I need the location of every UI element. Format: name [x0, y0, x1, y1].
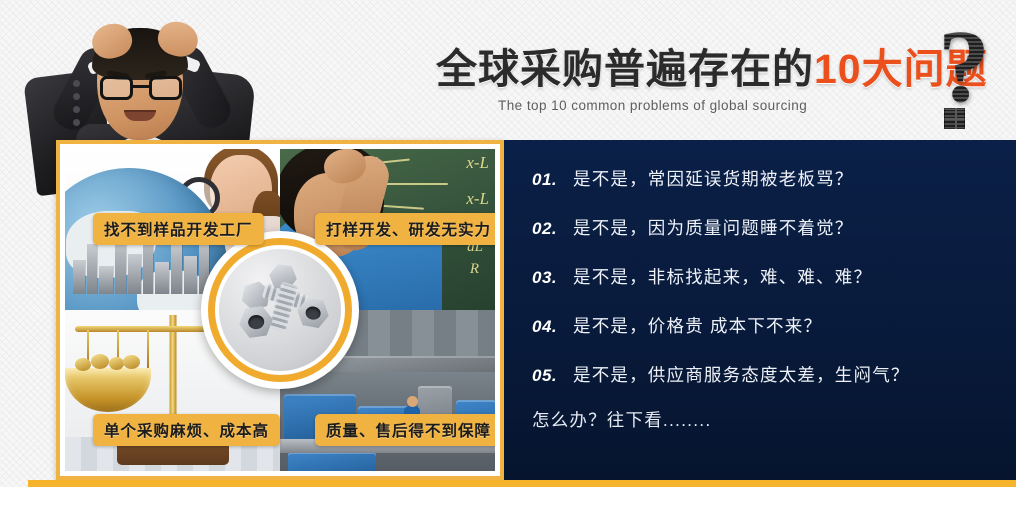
bolts-badge — [201, 231, 359, 389]
item-number: 03. — [532, 268, 560, 288]
list-item: 01. 是不是，常因延误货期被老板骂？ — [532, 166, 1016, 191]
question-mark-glyph: ? — [938, 22, 1010, 111]
question-mark-dot — [944, 108, 965, 129]
item-text: 是不是，常因延误货期被老板骂？ — [573, 166, 854, 191]
machine-5 — [288, 452, 376, 471]
gold-nugget-3 — [109, 357, 124, 370]
badge-orange-ring — [208, 238, 352, 382]
right-lens — [149, 76, 182, 100]
caption-factory-quality: 质量、售后得不到保障 — [315, 414, 500, 446]
chalk-formula-2: x-L — [466, 189, 489, 209]
chalk-formula-1: x-L — [466, 153, 489, 173]
caption-rnd-capability: 打样开发、研发无实力 — [315, 213, 500, 245]
item-text: 是不是，价格贵 成本下不来？ — [573, 313, 822, 338]
promo-banner: 全球采购普遍存在的10大问题 The top 10 common problem… — [0, 0, 1016, 531]
subtitle: The top 10 common problems of global sou… — [498, 98, 956, 113]
list-item: 03. 是不是，非标找起来，难、难、难？ — [532, 264, 1016, 289]
title-main-text: 全球采购普遍存在的 — [436, 46, 814, 92]
sleeve-buttons — [73, 80, 81, 124]
chalk-formula-5: R — [470, 261, 479, 278]
list-item: 05. 是不是，供应商服务态度太差，生闷气？ — [532, 362, 1016, 387]
list-item: 04. 是不是，价格贵 成本下不来？ — [532, 313, 1016, 338]
eyeglasses-icon — [100, 76, 182, 102]
content-card: x-L x-L R dL R — [28, 140, 1016, 480]
item-number: 02. — [532, 219, 560, 239]
question-mark-icon: ? — [938, 22, 1010, 134]
item-text: 是不是，非标找起来，难、难、难？ — [573, 264, 872, 289]
item-number: 04. — [532, 317, 560, 337]
nut-1 — [237, 305, 275, 339]
closing-text: 怎么办？往下看........ — [532, 407, 1016, 432]
bottom-white-band — [0, 487, 1016, 531]
caption-cost-scale: 单个采购麻烦、成本高 — [93, 414, 280, 446]
gold-nugget-4 — [123, 355, 140, 369]
factory-worker-head — [407, 396, 418, 407]
glasses-bridge — [133, 85, 149, 88]
gold-nugget-2 — [91, 354, 109, 369]
item-text: 是不是，因为质量问题睡不着觉？ — [573, 215, 854, 240]
list-item: 02. 是不是，因为质量问题睡不着觉？ — [532, 215, 1016, 240]
chain-3 — [147, 330, 149, 370]
bolts-photo — [219, 249, 341, 371]
banner-header: 全球采购普遍存在的10大问题 The top 10 common problem… — [0, 0, 1016, 145]
item-number: 05. — [532, 366, 560, 386]
collage-frame: x-L x-L R dL R — [56, 140, 504, 480]
page-title: 全球采购普遍存在的10大问题 — [436, 48, 956, 91]
left-lens — [100, 76, 133, 100]
title-block: 全球采购普遍存在的10大问题 The top 10 common problem… — [436, 48, 956, 113]
caption-sample-factory: 找不到样品开发工厂 — [93, 213, 264, 245]
image-collage: x-L x-L R dL R — [60, 144, 500, 476]
item-number: 01. — [532, 170, 560, 190]
problem-list-panel: 01. 是不是，常因延误货期被老板骂？ 02. 是不是，因为质量问题睡不着觉？ … — [504, 140, 1016, 480]
item-text: 是不是，供应商服务态度太差，生闷气？ — [573, 362, 910, 387]
gold-nugget-1 — [75, 358, 91, 371]
